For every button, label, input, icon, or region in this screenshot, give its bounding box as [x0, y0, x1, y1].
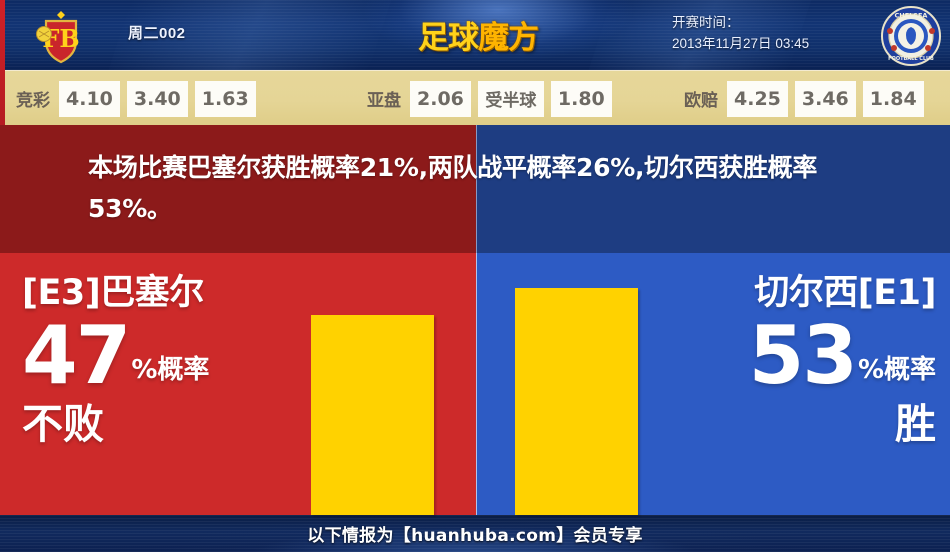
odds-group-oupei: 欧赔 4.25 3.46 1.84: [684, 71, 924, 126]
probability-summary-banner: 本场比赛巴塞尔获胜概率21%,两队战平概率26%,切尔西获胜概率53%。: [0, 125, 950, 253]
odds-cell-yapan-handicap[interactable]: 受半球: [478, 81, 544, 117]
brand-logo-part2: 魔方: [478, 12, 538, 57]
home-probability-bar: [311, 315, 434, 515]
away-verdict-label: 胜: [749, 399, 936, 449]
home-probability-row: 47 %概率: [22, 319, 209, 393]
left-red-edge-accent: [0, 0, 5, 125]
away-probability-bar: [515, 288, 638, 515]
odds-cell-yapan-away[interactable]: 1.80: [551, 81, 612, 117]
odds-cell-jingcai-away[interactable]: 1.63: [195, 81, 256, 117]
footer-notice-text: 以下情报为【huanhuba.com】会员专享: [0, 515, 950, 552]
svg-text:CHELSEA: CHELSEA: [895, 12, 928, 20]
panels-divider: [476, 253, 477, 515]
home-verdict-label: 不败: [22, 399, 209, 449]
away-team-info: 切尔西[E1] 53 %概率 胜: [749, 271, 936, 449]
brand-logo: 足球魔方: [408, 12, 548, 56]
away-probability-row: 53 %概率: [749, 319, 936, 393]
home-team-panel: [E3]巴塞尔 47 %概率 不败: [0, 253, 476, 515]
probability-summary-text: 本场比赛巴塞尔获胜概率21%,两队战平概率26%,切尔西获胜概率53%。: [88, 147, 878, 229]
match-id-label: 周二002: [128, 22, 186, 43]
kickoff-value: 2013年11月27日 03:45: [672, 33, 809, 54]
odds-group-label-yapan: 亚盘: [367, 86, 401, 111]
odds-group-yapan: 亚盘 2.06 受半球 1.80: [367, 71, 612, 126]
odds-bar: 竞彩 4.10 3.40 1.63 亚盘 2.06 受半球 1.80 欧赔 4.…: [0, 70, 950, 125]
odds-cell-oupei-away[interactable]: 1.84: [863, 81, 924, 117]
svg-text:FOOTBALL CLUB: FOOTBALL CLUB: [888, 56, 934, 62]
home-probability-value: 47: [22, 319, 129, 393]
fc-basel-crest-icon: FB: [30, 5, 92, 67]
odds-cell-oupei-draw[interactable]: 3.46: [795, 81, 856, 117]
odds-group-label-jingcai: 竞彩: [16, 86, 50, 111]
kickoff-time-block: 开赛时间： 2013年11月27日 03:45: [672, 12, 809, 54]
away-probability-unit: %概率: [856, 353, 936, 393]
odds-cell-yapan-home[interactable]: 2.06: [410, 81, 471, 117]
match-preview-infographic: FB 周二002 足球魔方 开赛时间： 2013年11月27日 03:45 CH…: [0, 0, 950, 552]
brand-logo-part1: 足球: [418, 12, 478, 57]
away-probability-value: 53: [749, 319, 856, 393]
kickoff-label: 开赛时间：: [672, 12, 809, 33]
probability-panels: [E3]巴塞尔 47 %概率 不败 切尔西[E1] 53 %概率 胜: [0, 253, 950, 515]
odds-group-jingcai: 竞彩 4.10 3.40 1.63: [16, 71, 256, 126]
chelsea-fc-crest-icon: CHELSEA FOOTBALL CLUB: [880, 5, 942, 67]
home-team-info: [E3]巴塞尔 47 %概率 不败: [22, 271, 209, 449]
footer-bar: 以下情报为【huanhuba.com】会员专享: [0, 515, 950, 552]
odds-cell-jingcai-draw[interactable]: 3.40: [127, 81, 188, 117]
away-team-panel: 切尔西[E1] 53 %概率 胜: [476, 253, 950, 515]
home-probability-unit: %概率: [129, 353, 209, 393]
odds-group-label-oupei: 欧赔: [684, 86, 718, 111]
odds-cell-oupei-home[interactable]: 4.25: [727, 81, 788, 117]
odds-cell-jingcai-home[interactable]: 4.10: [59, 81, 120, 117]
